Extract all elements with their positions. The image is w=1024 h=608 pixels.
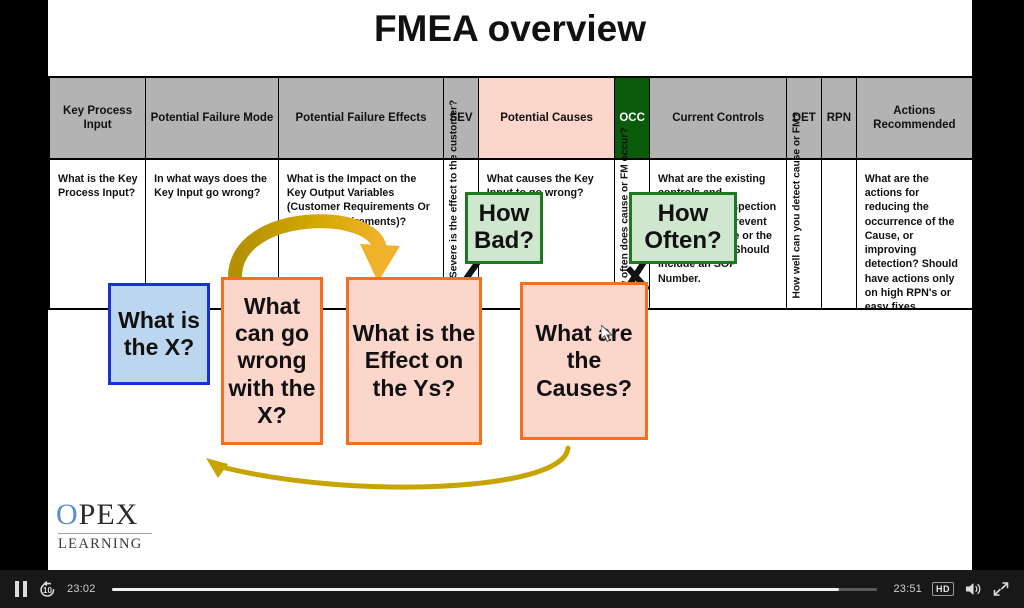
video-player-stage: FMEA overview Key Process Input What is … [0,0,1024,608]
column-header: Potential Causes [479,78,615,160]
arrow-causes-to-wrong [218,448,568,487]
table-column-potential-failure-mode: Potential Failure Mode In what ways does… [146,78,279,308]
flow-box-label: What is the X? [111,307,207,361]
presentation-slide: FMEA overview Key Process Input What is … [48,0,972,570]
quality-badge[interactable]: HD [932,582,954,596]
rewind-seconds-label: 10 [38,580,57,599]
table-column-key-process-input: Key Process Input What is the Key Proces… [50,78,146,308]
column-header: R P N [822,78,856,160]
volume-icon[interactable] [964,580,982,598]
callout-how-bad: How Bad? [465,192,543,264]
header-letter-n: N [843,112,851,125]
table-column-detection: D E T How well can you detect cause or F… [787,78,822,308]
header-letter-r: R [827,112,835,125]
logo-divider [58,533,152,534]
severity-vertical-text: How Severe is the effect to the customer… [449,99,461,302]
current-time-label: 23:02 [67,583,96,595]
column-description [822,160,856,308]
flow-box-what-is-the-effect: What is the Effect on the Ys? [346,277,482,445]
flow-box-label: What can go wrong with the X? [224,293,320,429]
header-letter-c1: C [628,112,636,125]
header-letter-t: T [809,112,816,125]
pause-icon[interactable] [14,581,28,597]
total-time-label: 23:51 [893,583,922,595]
arrow-head-wrong [206,458,228,478]
column-header: Key Process Input [50,78,145,160]
column-header: Current Controls [650,78,786,160]
column-description-vertical: How well can you detect cause or FM? [787,160,821,308]
table-column-potential-failure-effects: Potential Failure Effects What is the Im… [279,78,444,308]
header-letter-c2: C [637,112,645,125]
logo-wordmark: OPEX [56,498,152,532]
header-letter-o: O [619,112,628,125]
callout-label: How Often? [632,201,734,255]
logo-subtext: LEARNING [58,536,152,553]
table-column-actions-recommended: Actions Recommended What are the actions… [857,78,972,308]
progress-scrubber[interactable] [112,588,878,591]
detection-vertical-text: How well can you detect cause or FM? [792,112,804,298]
flow-box-label: What is the Effect on the Ys? [349,320,479,401]
fullscreen-icon[interactable] [992,580,1010,598]
page-title: FMEA overview [48,8,972,50]
header-letter-v: V [465,112,473,125]
rewind-10-icon[interactable]: 10 [38,580,57,599]
video-player-controls: 10 23:02 23:51 HD [0,570,1024,608]
opex-learning-logo: OPEX LEARNING [56,498,152,553]
column-header: Potential Failure Mode [146,78,278,160]
flow-box-what-is-the-x: What is the X? [108,283,210,385]
flow-box-label: What are the Causes? [523,320,645,401]
column-description: What are the actions for reducing the oc… [857,160,972,308]
callout-how-often: How Often? [629,192,737,264]
flow-box-what-can-go-wrong: What can go wrong with the X? [221,277,323,445]
pause-bar-right [23,581,27,597]
flow-box-what-are-the-causes: What are the Causes? [520,282,648,440]
logo-letter-o: O [56,498,79,531]
column-header: Actions Recommended [857,78,972,160]
progress-fill [112,588,840,591]
logo-letters-pex: PEX [79,498,139,531]
header-letter-p: P [835,112,843,125]
pause-bar-left [15,581,19,597]
callout-label: How Bad? [468,201,540,255]
column-header: Potential Failure Effects [279,78,443,160]
table-column-rpn: R P N [822,78,857,308]
mouse-cursor-icon [601,325,615,343]
